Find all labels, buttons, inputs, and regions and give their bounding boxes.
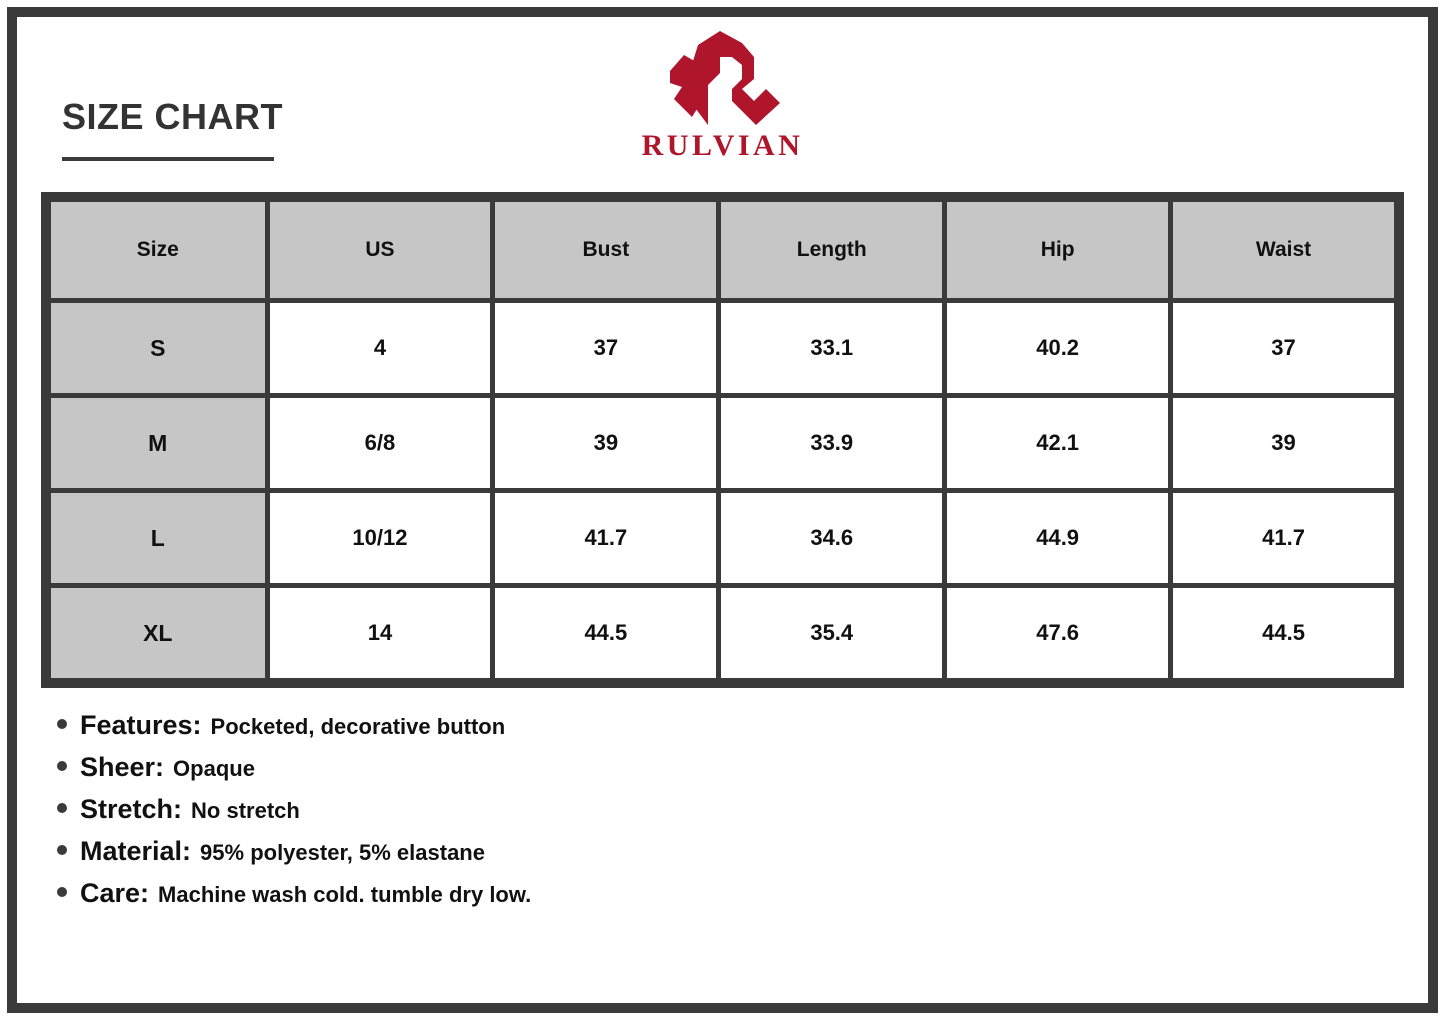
column-header-length: Length (721, 202, 942, 298)
cell-waist: 41.7 (1173, 493, 1394, 583)
list-item: Care: Machine wash cold. tumble dry low. (57, 878, 1428, 909)
table-row: S 4 37 33.1 40.2 37 (51, 303, 1394, 393)
bullet-icon (57, 803, 67, 813)
list-item: Material: 95% polyester, 5% elastane (57, 836, 1428, 867)
spec-value: Pocketed, decorative button (211, 714, 506, 740)
cell-length: 35.4 (721, 588, 942, 678)
product-spec-list: Features: Pocketed, decorative button Sh… (57, 710, 1428, 909)
table-row: M 6/8 39 33.9 42.1 39 (51, 398, 1394, 488)
cell-us: 4 (270, 303, 491, 393)
cell-hip: 44.9 (947, 493, 1168, 583)
spec-value: Machine wash cold. tumble dry low. (158, 882, 531, 908)
cell-hip: 47.6 (947, 588, 1168, 678)
column-header-size: Size (51, 202, 265, 298)
table-row: XL 14 44.5 35.4 47.6 44.5 (51, 588, 1394, 678)
column-header-us: US (270, 202, 491, 298)
spec-label: Features: (80, 710, 202, 741)
spec-value: Opaque (173, 756, 255, 782)
size-table-container: Size US Bust Length Hip Waist S 4 37 (41, 192, 1404, 688)
bullet-icon (57, 845, 67, 855)
cell-waist: 44.5 (1173, 588, 1394, 678)
column-header-waist: Waist (1173, 202, 1394, 298)
page-inner: SIZE CHART RULVIAN (17, 17, 1428, 1003)
size-table-head: Size US Bust Length Hip Waist (51, 202, 1394, 298)
cell-bust: 44.5 (495, 588, 716, 678)
row-header-size: M (51, 398, 265, 488)
page-border-frame: SIZE CHART RULVIAN (7, 7, 1438, 1013)
size-table-body: S 4 37 33.1 40.2 37 M 6/8 39 33.9 (51, 303, 1394, 678)
brand-logo: RULVIAN (17, 27, 1428, 161)
column-header-hip: Hip (947, 202, 1168, 298)
bullet-icon (57, 761, 67, 771)
spec-label: Sheer: (80, 752, 164, 783)
cell-us: 6/8 (270, 398, 491, 488)
cell-bust: 39 (495, 398, 716, 488)
cell-waist: 39 (1173, 398, 1394, 488)
column-header-bust: Bust (495, 202, 716, 298)
bullet-icon (57, 887, 67, 897)
cell-us: 14 (270, 588, 491, 678)
list-item: Stretch: No stretch (57, 794, 1428, 825)
cell-length: 34.6 (721, 493, 942, 583)
cell-bust: 41.7 (495, 493, 716, 583)
cell-length: 33.1 (721, 303, 942, 393)
list-item: Sheer: Opaque (57, 752, 1428, 783)
table-row: L 10/12 41.7 34.6 44.9 41.7 (51, 493, 1394, 583)
spec-label: Stretch: (80, 794, 182, 825)
spec-label: Material: (80, 836, 191, 867)
rulvian-r-monogram-icon (658, 27, 788, 127)
brand-wordmark: RULVIAN (642, 131, 804, 161)
size-table: Size US Bust Length Hip Waist S 4 37 (46, 197, 1399, 683)
row-header-size: L (51, 493, 265, 583)
cell-hip: 42.1 (947, 398, 1168, 488)
spec-value: No stretch (191, 798, 300, 824)
bullet-icon (57, 719, 67, 729)
spec-value: 95% polyester, 5% elastane (200, 840, 485, 866)
cell-waist: 37 (1173, 303, 1394, 393)
size-chart-page: SIZE CHART RULVIAN (0, 0, 1445, 1020)
cell-us: 10/12 (270, 493, 491, 583)
row-header-size: XL (51, 588, 265, 678)
cell-length: 33.9 (721, 398, 942, 488)
list-item: Features: Pocketed, decorative button (57, 710, 1428, 741)
spec-label: Care: (80, 878, 149, 909)
cell-hip: 40.2 (947, 303, 1168, 393)
cell-bust: 37 (495, 303, 716, 393)
page-header: SIZE CHART RULVIAN (17, 17, 1428, 192)
table-header-row: Size US Bust Length Hip Waist (51, 202, 1394, 298)
row-header-size: S (51, 303, 265, 393)
